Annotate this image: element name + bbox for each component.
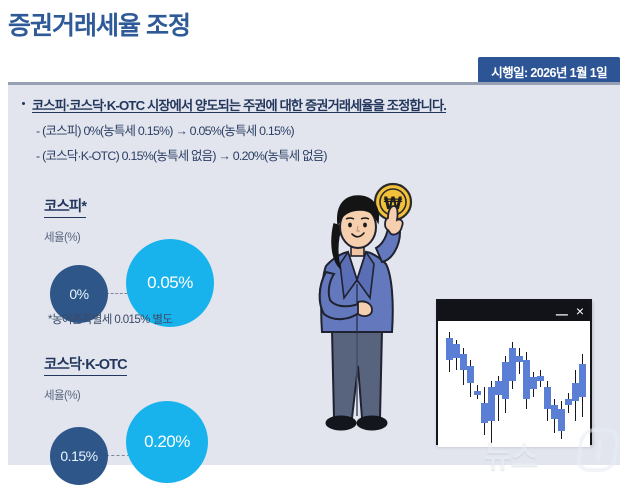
candle-body <box>460 354 467 370</box>
sub-line-kosdaq: - (코스닥·K-OTC) 0.15%(농특세 없음) → 0.20%(농특세 … <box>36 146 582 164</box>
group-title-kosdaq: 코스닥·K-OTC <box>44 353 127 376</box>
bubble-chart-kosdaq: 0.15% 0.20% <box>44 397 244 489</box>
candle-body <box>502 362 509 400</box>
connector-line-kosdaq <box>106 455 130 456</box>
bullet-block: 코스피·코스닥·K-OTC 시장에서 양도되는 주권에 대한 증권거래세율을 조… <box>22 95 582 164</box>
bullet-dot-icon <box>22 102 25 105</box>
minimize-icon[interactable]: — <box>556 308 568 320</box>
candle-body <box>481 403 488 423</box>
candle-body <box>446 338 453 360</box>
candle-body <box>579 364 586 398</box>
page-title: 증권거래세율 조정 <box>8 6 190 42</box>
candle-body <box>474 391 481 395</box>
candle-body <box>516 356 523 362</box>
businesswoman-illustration: ₩ <box>300 180 430 465</box>
watermark-text: 뉴스 <box>484 432 537 476</box>
candle-body <box>572 383 579 401</box>
footnote-kospi: *농어촌특별세 0.015% 별도 <box>48 311 172 327</box>
sub-line-kospi: - (코스피) 0%(농특세 0.15%) → 0.05%(농특세 0.15%) <box>36 121 582 139</box>
candle-body <box>453 344 460 358</box>
rate-group-kosdaq: 코스닥·K-OTC 세율(%) 0.15% 0.20% <box>44 353 244 489</box>
candle-body <box>467 366 474 384</box>
close-icon[interactable]: × <box>576 304 584 318</box>
news1-watermark: 뉴스 <box>484 428 624 474</box>
stock-chart-window: — × <box>436 299 592 445</box>
candle-body <box>544 387 551 409</box>
chart-window-titlebar[interactable]: — × <box>438 301 590 321</box>
bullet-main-text: 코스피·코스닥·K-OTC 시장에서 양도되는 주권에 대한 증권거래세율을 조… <box>32 95 446 114</box>
bubble-new-rate-kosdaq: 0.20% <box>126 401 208 483</box>
candlestick-series <box>443 326 585 442</box>
group-title-kospi: 코스피* <box>44 195 86 218</box>
bullet-main-line: 코스피·코스닥·K-OTC 시장에서 양도되는 주권에 대한 증권거래세율을 조… <box>22 95 582 114</box>
watermark-number-icon <box>575 428 621 472</box>
candle-body <box>551 405 558 419</box>
candle-body <box>495 381 502 395</box>
bubble-old-rate-kosdaq: 0.15% <box>50 427 108 485</box>
content-panel: 코스피·코스닥·K-OTC 시장에서 양도되는 주권에 대한 증권거래세율을 조… <box>8 82 620 465</box>
candle-body <box>523 360 530 400</box>
candle-body <box>537 376 544 382</box>
candle-body <box>509 348 516 382</box>
candle-body <box>565 399 572 405</box>
candle-body <box>488 387 495 421</box>
candle-body <box>530 377 537 389</box>
